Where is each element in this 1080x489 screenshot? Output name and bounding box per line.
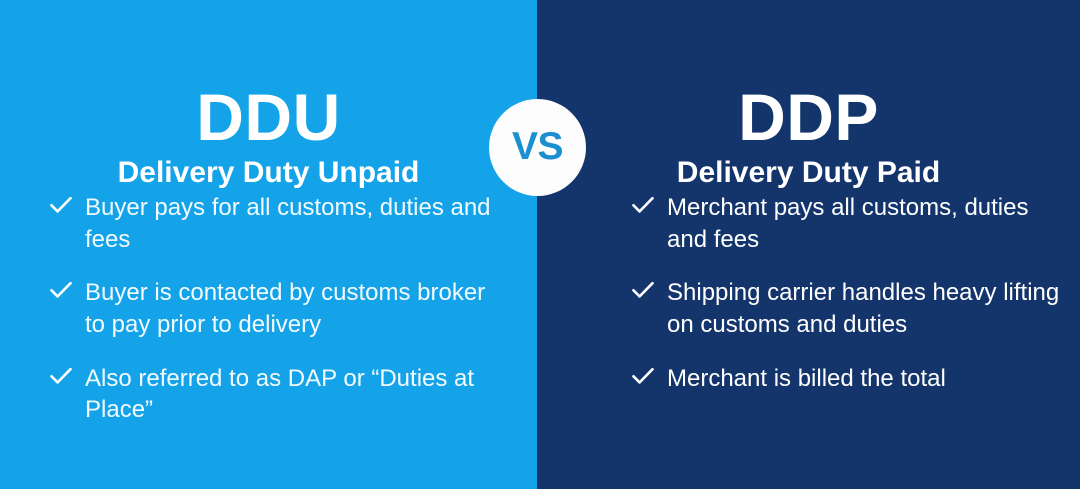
check-icon	[632, 281, 654, 305]
check-icon	[632, 196, 654, 220]
check-icon	[50, 367, 72, 391]
ddp-subtitle: Delivery Duty Paid	[537, 156, 1080, 189]
list-item-label: Merchant is billed the total	[667, 363, 946, 395]
panel-ddu: DDU Delivery Duty Unpaid Buyer pays for …	[0, 0, 537, 489]
ddp-title: DDP	[537, 84, 1080, 150]
list-item: Buyer pays for all customs, duties and f…	[50, 192, 500, 255]
list-item-label: Buyer pays for all customs, duties and f…	[85, 192, 500, 255]
list-item-label: Shipping carrier handles heavy lifting o…	[667, 277, 1062, 340]
ddp-bullet-list: Merchant pays all customs, duties and fe…	[632, 192, 1062, 394]
versus-badge: VS	[489, 99, 586, 196]
list-item: Merchant pays all customs, duties and fe…	[632, 192, 1062, 255]
list-item: Shipping carrier handles heavy lifting o…	[632, 277, 1062, 340]
versus-label: VS	[512, 127, 563, 166]
ddu-subtitle: Delivery Duty Unpaid	[0, 156, 537, 189]
check-icon	[632, 367, 654, 391]
panel-ddp: DDP Delivery Duty Paid Merchant pays all…	[537, 0, 1080, 489]
list-item: Also referred to as DAP or “Duties at Pl…	[50, 363, 500, 426]
ddu-bullet-list: Buyer pays for all customs, duties and f…	[50, 192, 500, 426]
list-item-label: Buyer is contacted by customs broker to …	[85, 277, 500, 340]
list-item: Merchant is billed the total	[632, 363, 1062, 395]
ddu-vs-ddp-infographic: DDU Delivery Duty Unpaid Buyer pays for …	[0, 0, 1080, 489]
ddu-title: DDU	[0, 84, 537, 150]
list-item: Buyer is contacted by customs broker to …	[50, 277, 500, 340]
list-item-label: Merchant pays all customs, duties and fe…	[667, 192, 1062, 255]
check-icon	[50, 281, 72, 305]
list-item-label: Also referred to as DAP or “Duties at Pl…	[85, 363, 500, 426]
check-icon	[50, 196, 72, 220]
